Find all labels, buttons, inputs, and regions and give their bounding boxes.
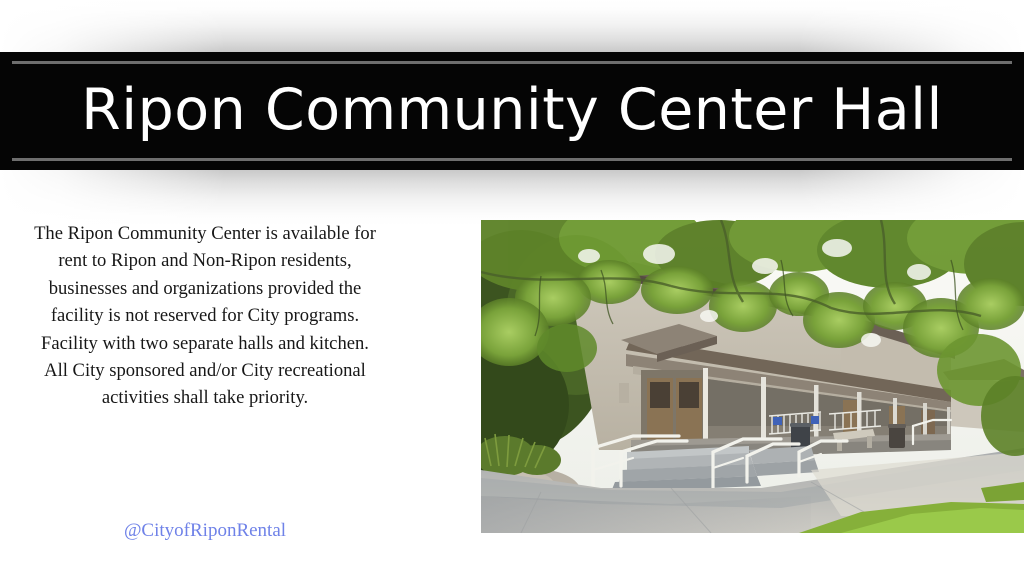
slide-canvas: Ripon Community Center Hall The Ripon Co… <box>0 0 1024 577</box>
community-center-photo <box>481 220 1024 533</box>
description-text-block: The Ripon Community Center is available … <box>22 220 388 412</box>
bottom-gradient-side-fade <box>0 170 1024 226</box>
description-paragraph-2: Facility with two separate halls and kit… <box>22 330 388 357</box>
description-paragraph-3: All City sponsored and/or City recreatio… <box>22 357 388 412</box>
top-gradient-side-fade <box>0 0 1024 52</box>
page-title: Ripon Community Center Hall <box>0 52 1024 170</box>
description-paragraph-1: The Ripon Community Center is available … <box>22 220 388 330</box>
community-center-photo-illustration <box>481 220 1024 533</box>
social-handle-link[interactable]: @CityofRiponRental <box>22 518 388 544</box>
title-banner: Ripon Community Center Hall <box>0 52 1024 170</box>
